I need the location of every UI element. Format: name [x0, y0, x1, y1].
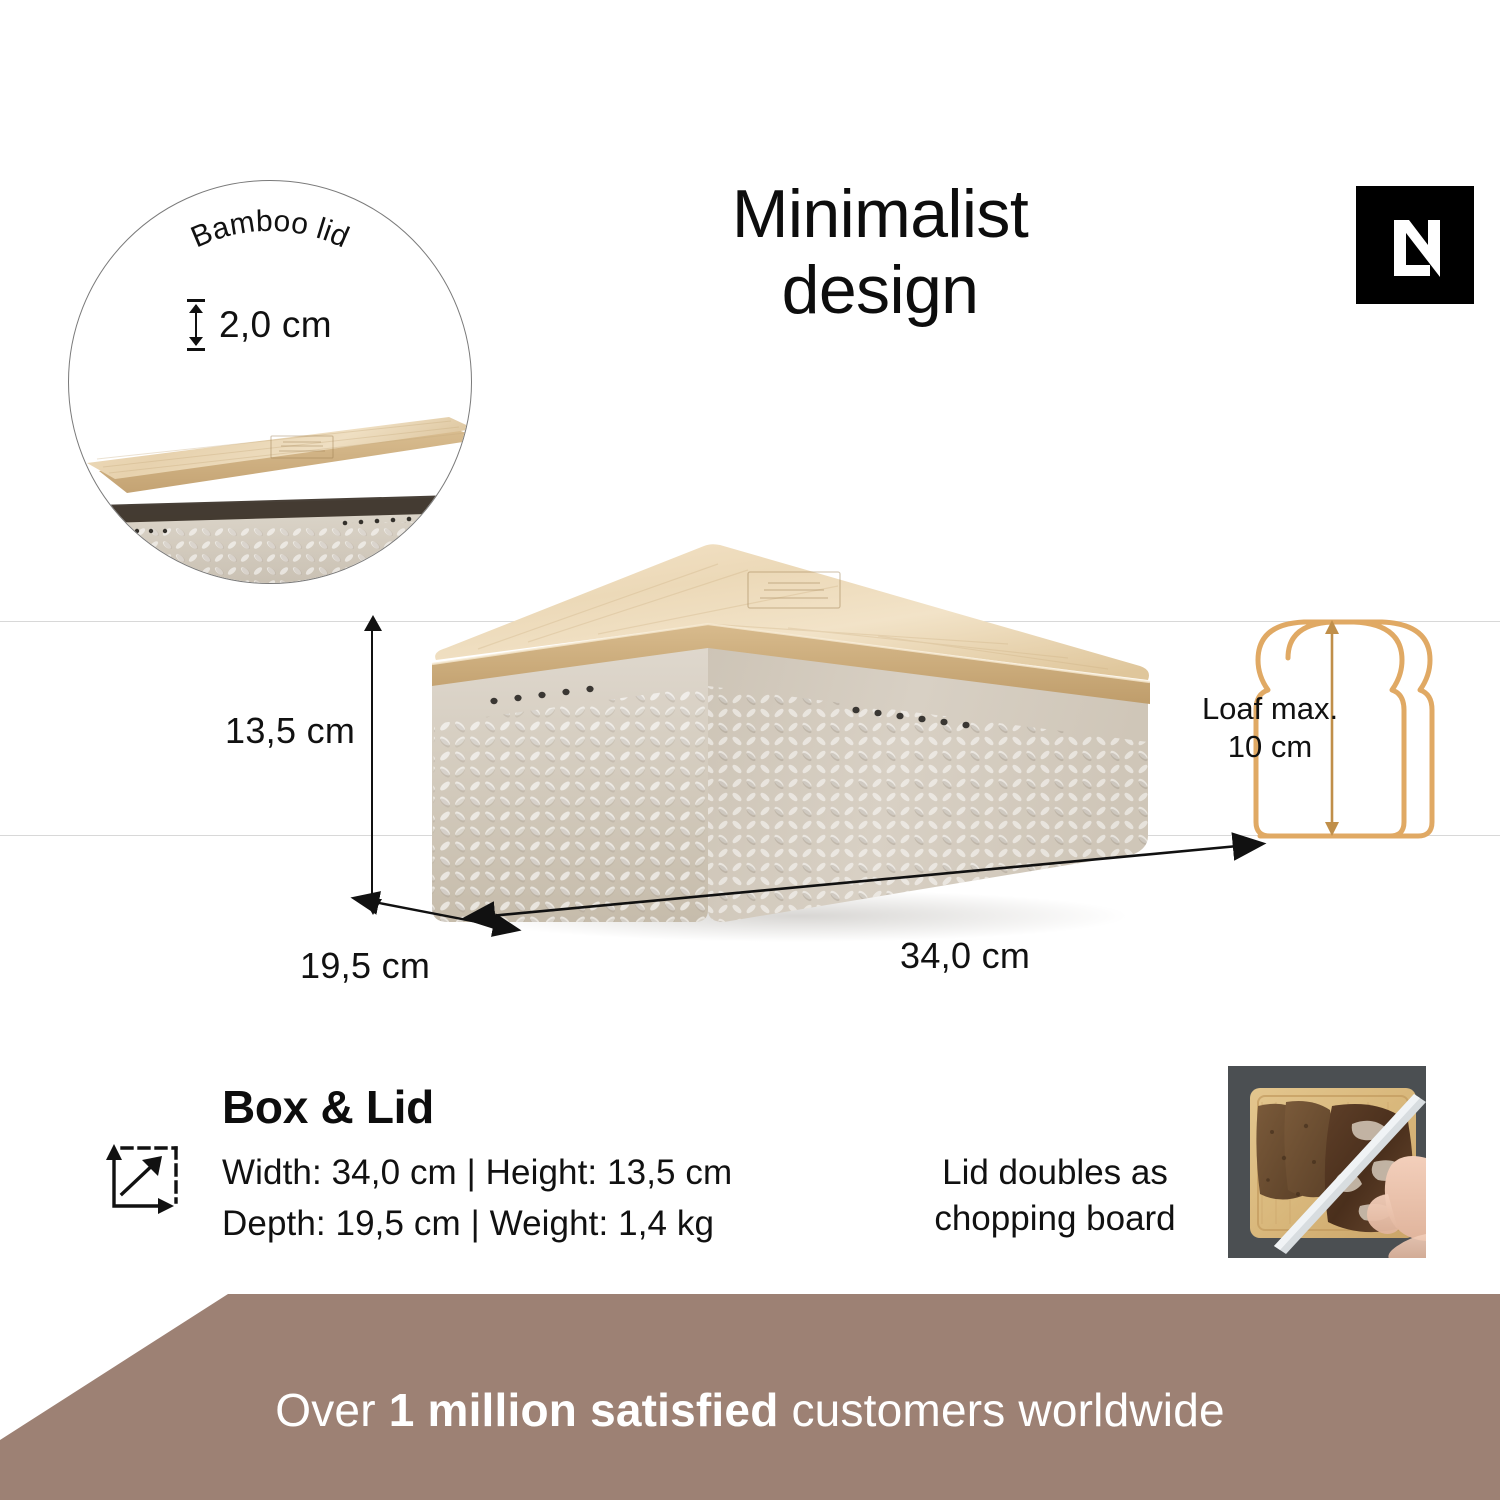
- banner-prefix: Over: [275, 1384, 388, 1436]
- bottom-banner: Over 1 million satisfied customers world…: [0, 1294, 1500, 1500]
- spec-line-2: Depth: 19,5 cm | Weight: 1,4 kg: [222, 1199, 732, 1250]
- brand-logo-icon: [1356, 186, 1474, 304]
- chop-caption-line-1: Lid doubles as: [942, 1153, 1168, 1192]
- banner-text: Over 1 million satisfied customers world…: [0, 1294, 1500, 1500]
- lid-thickness-dimension: 2,0 cm: [187, 299, 332, 351]
- banner-suffix: customers worldwide: [779, 1384, 1225, 1436]
- dimensions-arrows-icon: [100, 1136, 184, 1220]
- bamboo-lid-label-text: Bamboo lid: [186, 205, 354, 255]
- loaf-max-label: Loaf max. 10 cm: [1185, 690, 1355, 766]
- banner-highlight: 1 million satisfied: [389, 1384, 779, 1436]
- headline-line-2: design: [782, 252, 979, 328]
- height-dimension-arrow: [360, 615, 386, 915]
- spec-line-1: Width: 34,0 cm | Height: 13,5 cm: [222, 1148, 732, 1199]
- depth-dimension-label: 19,5 cm: [300, 945, 430, 987]
- loaf-label-line-1: Loaf max.: [1202, 691, 1338, 726]
- headline-line-1: Minimalist: [732, 176, 1028, 252]
- height-dimension-label: 13,5 cm: [225, 710, 355, 752]
- width-dimension-label: 34,0 cm: [900, 935, 1030, 977]
- page-title: Minimalist design: [600, 176, 1160, 328]
- chop-caption-line-2: chopping board: [905, 1196, 1205, 1242]
- chopping-board-caption: Lid doubles as chopping board: [905, 1150, 1205, 1241]
- loaf-label-line-2: 10 cm: [1185, 728, 1355, 766]
- vertical-double-arrow-icon: [187, 299, 205, 351]
- spec-title: Box & Lid: [222, 1080, 434, 1134]
- width-dimension-arrow: [480, 838, 1250, 924]
- chopping-board-photo: [1228, 1066, 1426, 1258]
- lid-thickness-value: 2,0 cm: [219, 304, 332, 346]
- spec-details: Width: 34,0 cm | Height: 13,5 cm Depth: …: [222, 1148, 732, 1250]
- infographic-canvas: Bamboo lid 2,0 cm Minimalist design: [0, 0, 1500, 1500]
